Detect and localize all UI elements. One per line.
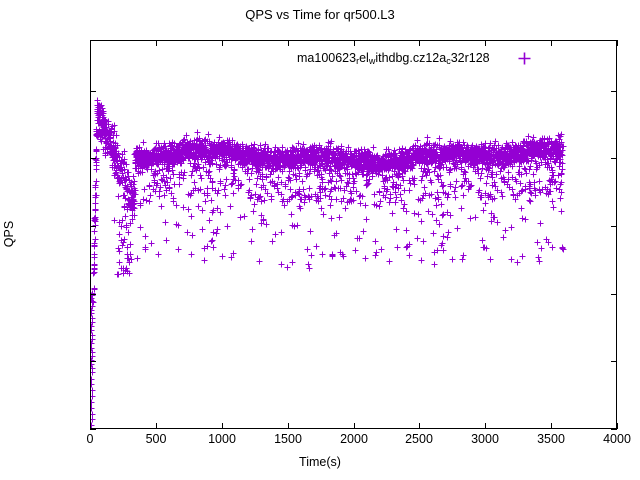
x-tick-mark	[419, 40, 420, 46]
y-tick-mark	[90, 226, 96, 227]
x-axis-label: Time(s)	[0, 455, 640, 469]
x-tick-mark	[617, 40, 618, 46]
x-tick-mark	[485, 423, 486, 429]
x-tick-label: 4000	[577, 433, 640, 445]
y-tick-mark	[90, 429, 96, 430]
scatter-points	[91, 41, 616, 428]
x-tick-mark	[617, 423, 618, 429]
plot-clip	[91, 41, 616, 428]
x-tick-mark	[354, 40, 355, 46]
x-tick-mark	[156, 423, 157, 429]
page-title: QPS vs Time for qr500.L3	[0, 7, 640, 22]
x-tick-mark	[551, 40, 552, 46]
y-tick-mark	[611, 429, 617, 430]
x-tick-mark	[485, 40, 486, 46]
y-tick-mark	[611, 158, 617, 159]
x-tick-mark	[156, 40, 157, 46]
x-tick-mark	[90, 423, 91, 429]
chart-canvas: QPS vs Time for qr500.L3 ma100623relwith…	[0, 0, 640, 480]
x-tick-mark	[354, 423, 355, 429]
x-tick-mark	[419, 423, 420, 429]
x-tick-mark	[90, 40, 91, 46]
y-tick-mark	[90, 361, 96, 362]
plot-area	[90, 40, 617, 429]
y-tick-mark	[90, 91, 96, 92]
y-tick-mark	[611, 91, 617, 92]
x-tick-mark	[222, 40, 223, 46]
y-tick-mark	[611, 294, 617, 295]
y-tick-mark	[611, 361, 617, 362]
x-tick-mark	[288, 40, 289, 46]
y-tick-mark	[90, 294, 96, 295]
y-axis-label: QPS	[2, 204, 16, 264]
x-tick-mark	[551, 423, 552, 429]
y-tick-mark	[90, 158, 96, 159]
x-tick-mark	[288, 423, 289, 429]
y-tick-mark	[611, 226, 617, 227]
x-tick-mark	[222, 423, 223, 429]
